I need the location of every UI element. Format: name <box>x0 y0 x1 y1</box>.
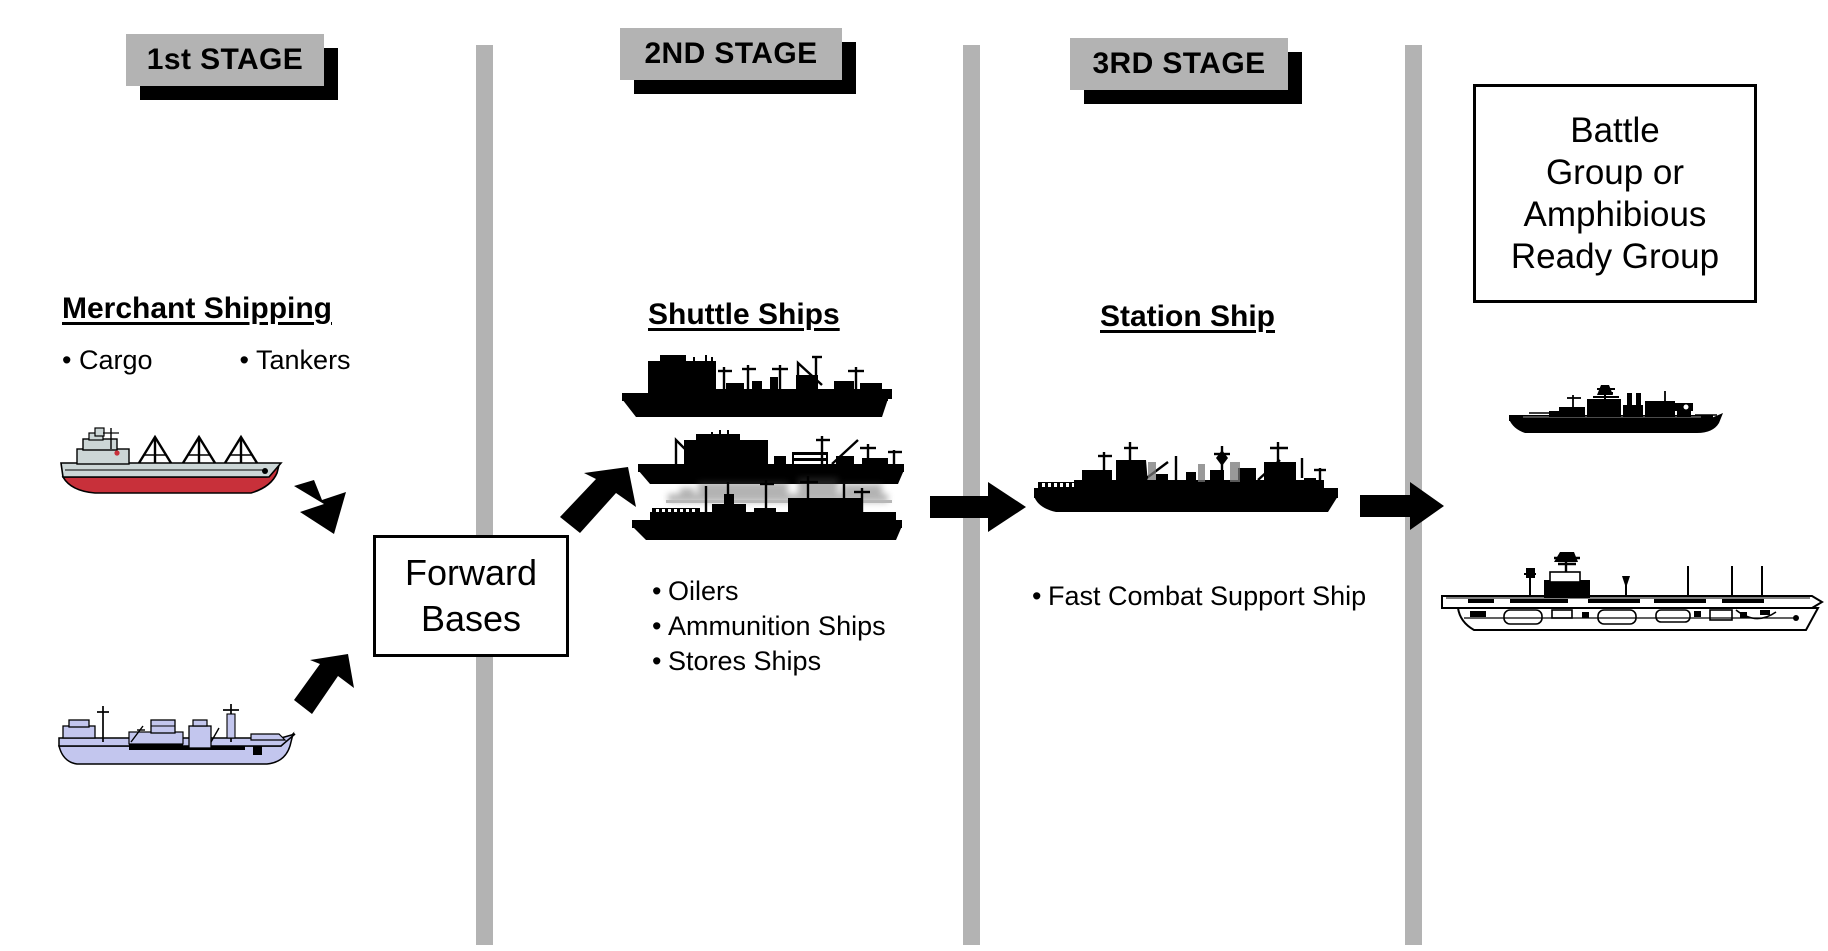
bullet-label-fast-combat-support-ship: Fast Combat Support Ship <box>1048 581 1366 611</box>
destroyer-ship <box>1505 385 1727 443</box>
arrow-cargo-to-bases <box>292 478 362 540</box>
stage-tag-1-label: 1st STAGE <box>126 34 324 86</box>
bullet-label-oilers: Oilers <box>668 576 739 606</box>
shuttle-ship-1 <box>620 355 892 421</box>
bullet-glyph-tankers: • <box>240 345 249 375</box>
diagram-canvas: 1st STAGE 2ND STAGE 3RD STAGE Merchant S… <box>0 0 1828 951</box>
bullet-row-ammunition-ships: •Ammunition Ships <box>652 610 886 642</box>
forward-bases-box[interactable]: Forward Bases <box>373 535 569 657</box>
bullets-station-ship: •Fast Combat Support Ship <box>1032 580 1366 615</box>
bullet-label-stores-ships: Stores Ships <box>668 646 821 676</box>
arrow-station-to-battlegroup <box>1360 482 1446 530</box>
heading-station-ship: Station Ship <box>1100 300 1275 334</box>
tanker-ship-art <box>55 690 297 772</box>
stage-tag-2: 2ND STAGE <box>620 28 842 80</box>
shuttle-ship-1-art <box>620 355 892 421</box>
heading-shuttle-ships: Shuttle Ships <box>648 298 840 332</box>
forward-bases-line-1: Forward <box>405 550 537 596</box>
battle-group-line-3: Amphibious <box>1524 194 1707 236</box>
cargo-ship-art <box>55 425 283 505</box>
battle-group-line-4: Ready Group <box>1511 236 1719 278</box>
stage-tag-3: 3RD STAGE <box>1070 38 1288 90</box>
stage-tag-2-label: 2ND STAGE <box>620 28 842 80</box>
arrow-tanker-to-bases <box>292 652 364 720</box>
bullet-row-stores-ships: •Stores Ships <box>652 645 886 677</box>
battle-group-line-1: Battle <box>1570 110 1660 152</box>
destroyer-ship-art <box>1505 385 1727 443</box>
shuttle-ship-3 <box>628 472 908 544</box>
shuttle-ship-3-art <box>628 472 908 544</box>
bullet-glyph-stores-ships: • <box>652 645 668 677</box>
bullet-label-tankers: Tankers <box>256 345 351 375</box>
bullets-shuttle-ships: •Oilers •Ammunition Ships •Stores Ships <box>652 575 886 680</box>
fast-combat-support-ship-art <box>1028 440 1344 518</box>
aircraft-carrier-art <box>1440 552 1826 640</box>
bullet-glyph-ammunition-ships: • <box>652 610 668 642</box>
battle-group-line-2: Group or <box>1546 152 1684 194</box>
heading-merchant-shipping: Merchant Shipping <box>62 292 332 326</box>
bullet-glyph-oilers: • <box>652 575 668 607</box>
battle-group-box[interactable]: Battle Group or Amphibious Ready Group <box>1473 84 1757 303</box>
bullet-glyph-cargo: • <box>62 345 71 375</box>
bullets-merchant-shipping: • Cargo • Tankers <box>62 345 351 376</box>
bullet-row-fast-combat-support-ship: •Fast Combat Support Ship <box>1032 580 1366 612</box>
cargo-ship <box>55 425 283 505</box>
arrow-shuttle-to-station <box>930 482 1028 532</box>
bullet-row-oilers: •Oilers <box>652 575 886 607</box>
stage-tag-1: 1st STAGE <box>126 34 324 86</box>
bullet-label-ammunition-ships: Ammunition Ships <box>668 611 886 641</box>
aircraft-carrier-ship <box>1440 552 1826 640</box>
bullet-glyph-fast-combat-support-ship: • <box>1032 580 1048 612</box>
forward-bases-line-2: Bases <box>421 596 521 642</box>
bullet-label-cargo: Cargo <box>79 345 153 375</box>
divider-stage1-stage2 <box>476 45 493 945</box>
stage-tag-3-label: 3RD STAGE <box>1070 38 1288 90</box>
tanker-ship <box>55 690 297 772</box>
fast-combat-support-ship <box>1028 440 1344 518</box>
